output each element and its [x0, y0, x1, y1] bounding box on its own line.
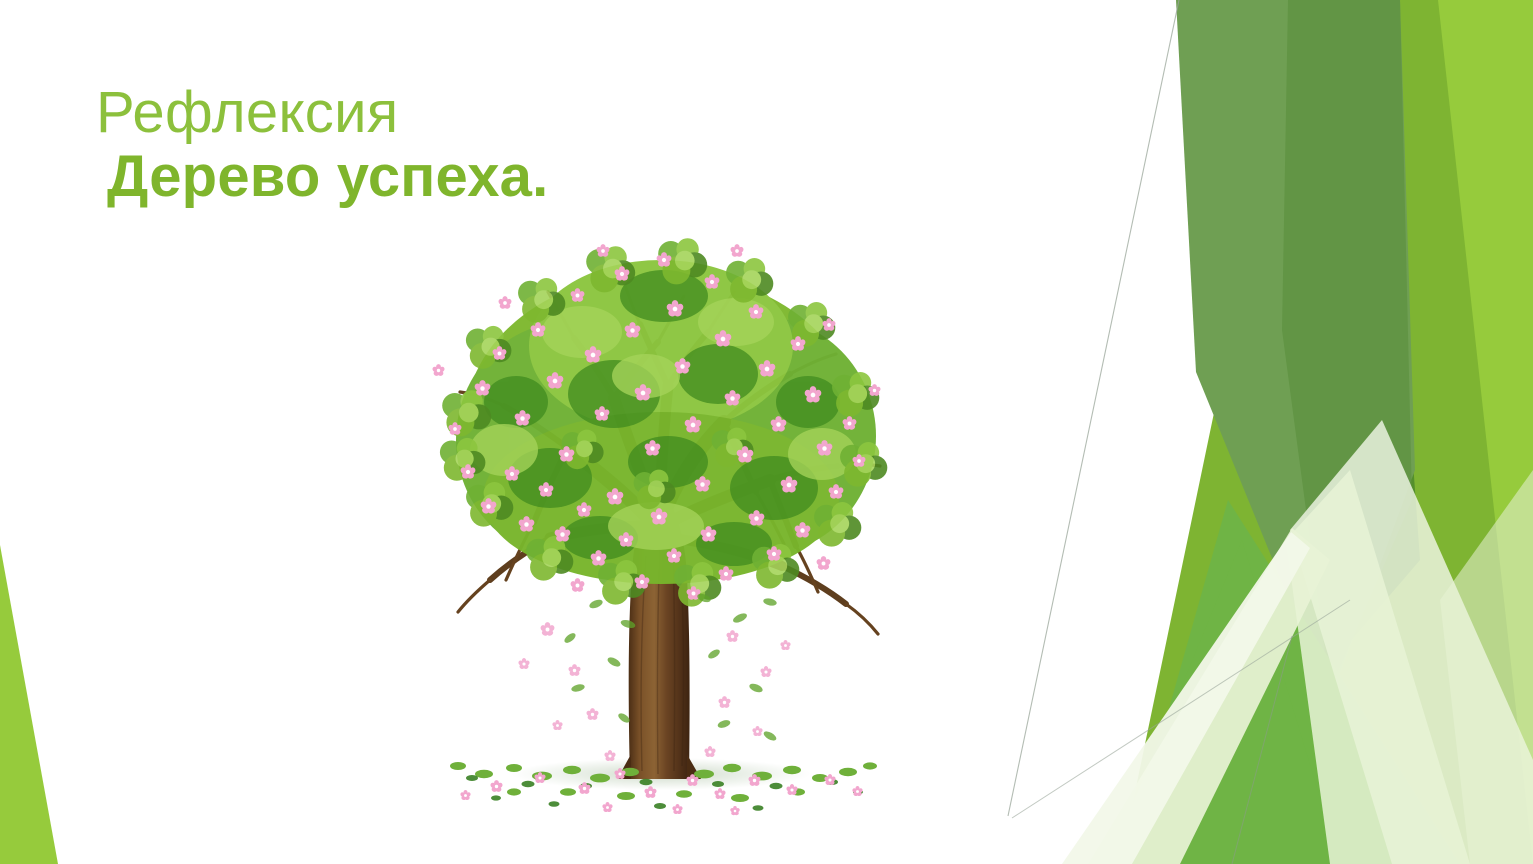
deco-pale-wedge-lower-left — [1088, 528, 1330, 864]
deco-pale-wedge-upper — [1290, 420, 1533, 864]
deco-bright-green-band — [1120, 0, 1533, 864]
tree-illustration: Дерево успеха — цветущее дерево с зелёно… — [418, 226, 904, 822]
deco-hairline-descending — [1232, 636, 1292, 864]
title-line-1: Рефлексия — [96, 82, 856, 145]
tree-foliage — [440, 238, 887, 606]
deco-right-lime-outer — [1250, 0, 1533, 864]
deco-pale-wedge-mid — [1286, 470, 1470, 864]
deco-dark-olive-polygon — [1176, 0, 1415, 700]
title-line-2: Дерево успеха. — [96, 145, 856, 210]
deco-mid-green-sweep — [1125, 500, 1460, 864]
slide-canvas: Рефлексия Дерево успеха. Дерево успеха —… — [0, 0, 1533, 864]
deco-deep-green-wedge — [1296, 0, 1420, 700]
deco-mid-green-tail — [1108, 540, 1340, 864]
deco-hairline-lower — [1012, 600, 1350, 818]
deco-light-wedge-right — [1440, 470, 1533, 864]
left-accent-triangle — [0, 545, 58, 864]
deco-palest-wedge-lower-left — [1062, 532, 1310, 864]
deco-olive-fold — [1282, 0, 1412, 690]
deco-hairline-upper — [1008, 0, 1179, 816]
page-title: Рефлексия Дерево успеха. — [96, 82, 856, 210]
